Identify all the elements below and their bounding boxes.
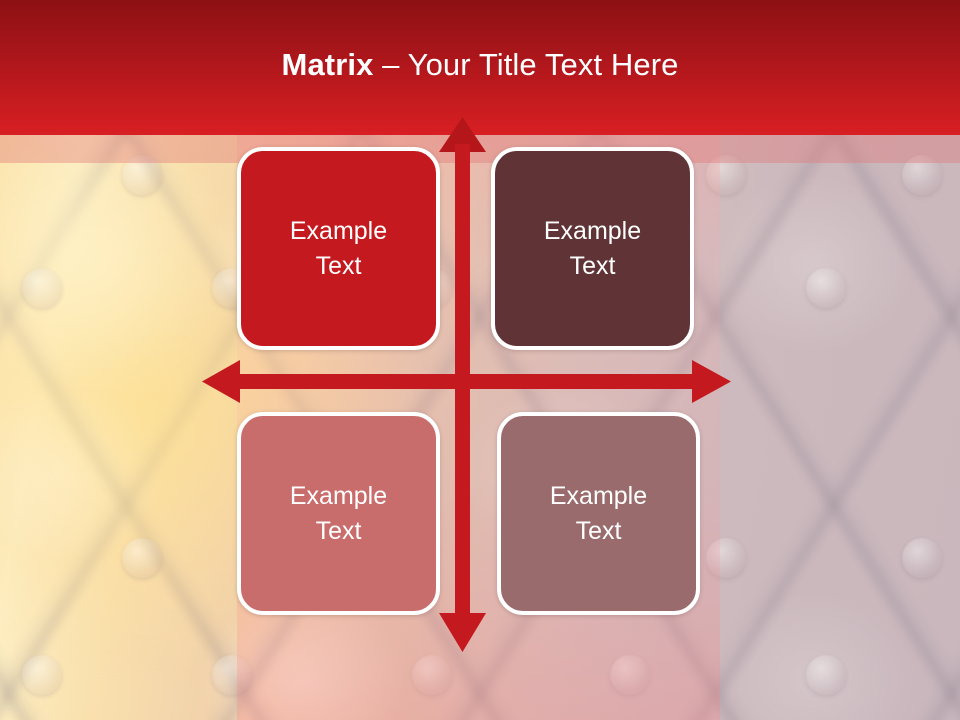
slide-canvas: Matrix – Your Title Text Here Example Te…	[0, 0, 960, 720]
page-title-bold: Matrix	[282, 47, 374, 82]
quadrant-box-top-right[interactable]: Example Text	[491, 147, 694, 350]
quadrant-label-top-left: Example Text	[290, 214, 387, 283]
quadrant-label-line2: Text	[550, 514, 647, 549]
quadrant-label-top-right: Example Text	[544, 214, 641, 283]
quadrant-label-line2: Text	[544, 249, 641, 284]
quadrant-box-bottom-right[interactable]: Example Text	[497, 412, 700, 615]
overlay-top-band	[0, 135, 960, 163]
quadrant-box-top-left[interactable]: Example Text	[237, 147, 440, 350]
quadrant-box-bottom-left[interactable]: Example Text	[237, 412, 440, 615]
page-title: Matrix – Your Title Text Here	[0, 47, 960, 83]
quadrant-label-line1: Example	[290, 479, 387, 514]
quadrant-label-line1: Example	[550, 479, 647, 514]
quadrant-label-bottom-left: Example Text	[290, 479, 387, 548]
quadrant-label-line1: Example	[544, 214, 641, 249]
page-title-rest: – Your Title Text Here	[373, 47, 678, 82]
quadrant-label-line2: Text	[290, 249, 387, 284]
quadrant-label-line1: Example	[290, 214, 387, 249]
quadrant-label-bottom-right: Example Text	[550, 479, 647, 548]
quadrant-label-line2: Text	[290, 514, 387, 549]
